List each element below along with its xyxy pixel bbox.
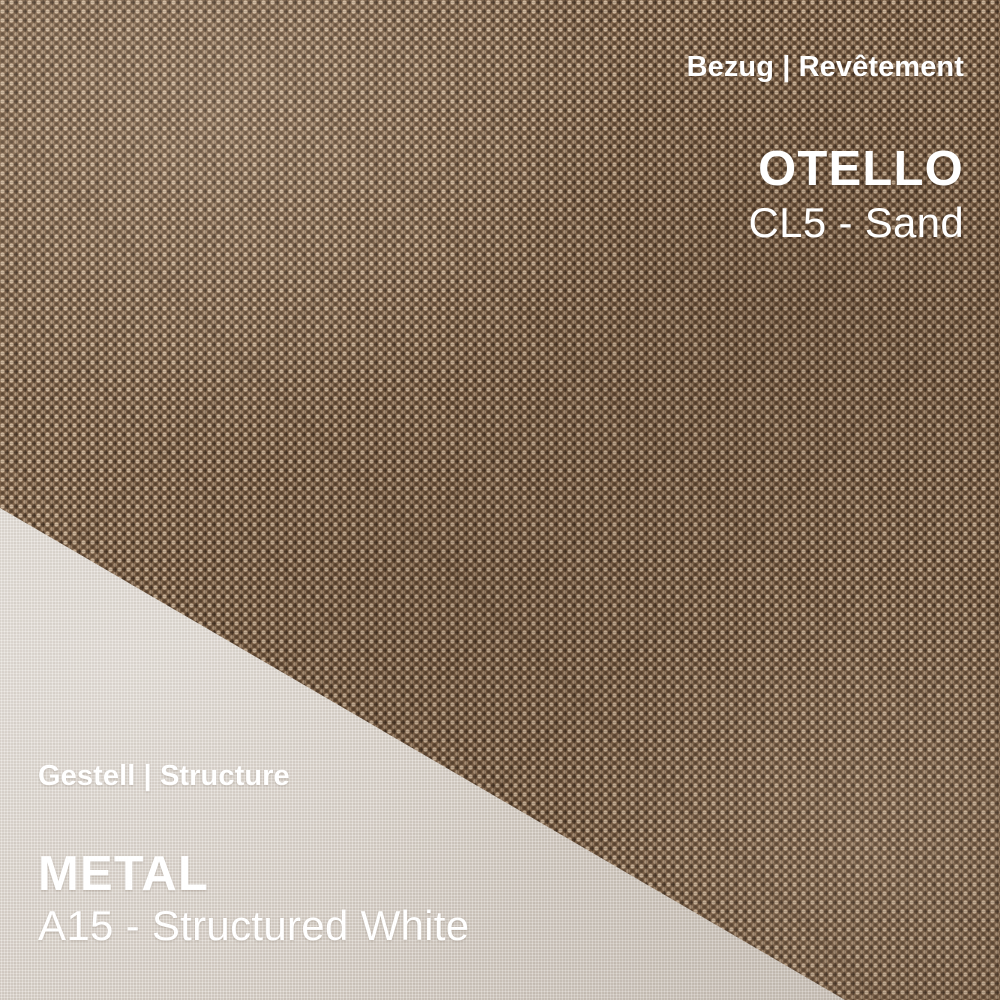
fabric-code-label: CL5 - Sand (687, 201, 964, 245)
fabric-name-label: OTELLO (687, 144, 964, 195)
frame-code-label: A15 - Structured White (38, 904, 469, 948)
material-swatch-card: Bezug | Revêtement OTELLO CL5 - Sand Ges… (0, 0, 1000, 1000)
frame-label-group: Gestell | Structure METAL A15 - Structur… (38, 761, 469, 948)
frame-name-label: METAL (38, 849, 469, 900)
fabric-label-group: Bezug | Revêtement OTELLO CL5 - Sand (687, 52, 964, 245)
frame-category-label: Gestell | Structure (38, 761, 469, 791)
fabric-category-label: Bezug | Revêtement (687, 52, 964, 82)
